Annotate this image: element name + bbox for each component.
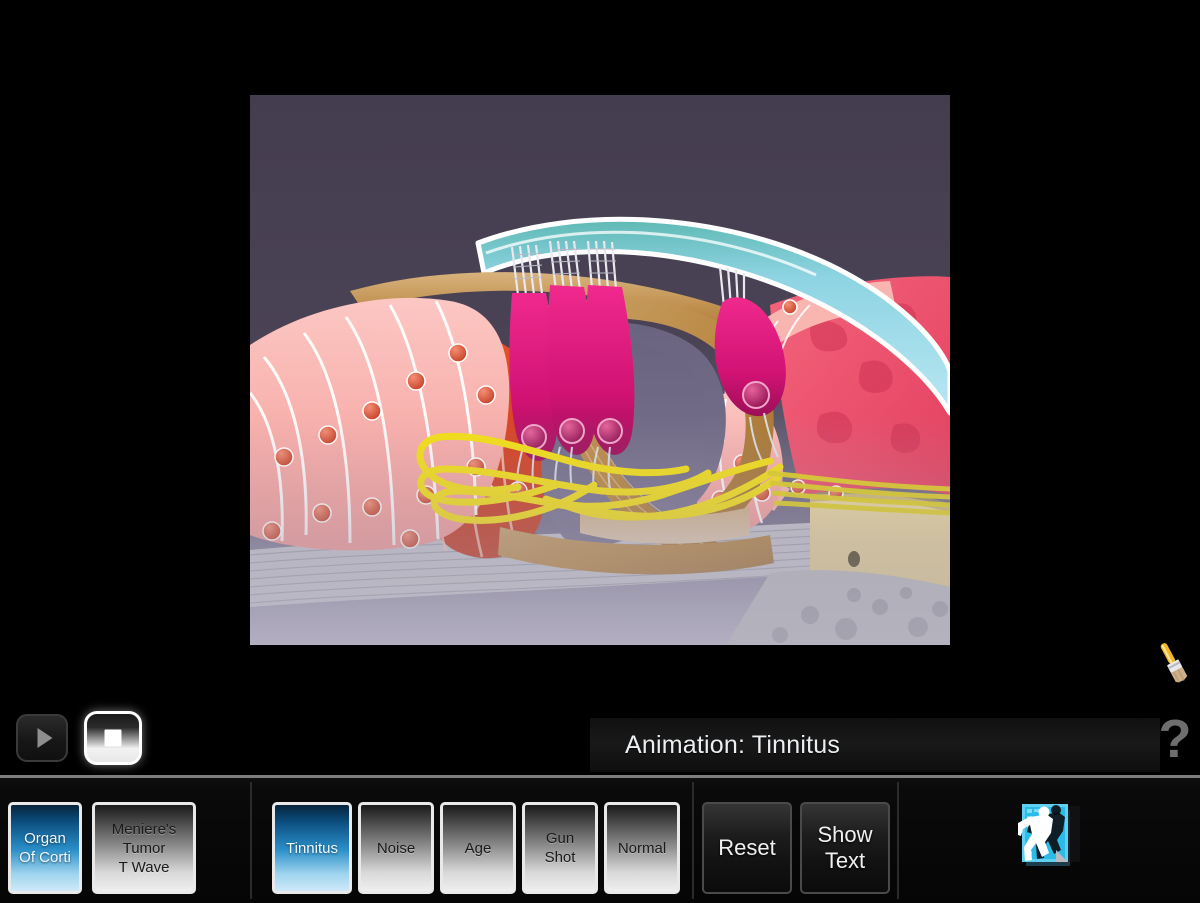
question-mark-icon[interactable]: ?	[1158, 712, 1192, 768]
topic-label: Organ Of Corti	[16, 829, 74, 867]
animation-stage: Animation: Tinnitus ?	[0, 0, 1200, 700]
paintbrush-icon[interactable]	[1154, 640, 1194, 692]
movie-clip-icon[interactable]	[1018, 800, 1080, 872]
animation-title-text: Animation: Tinnitus	[590, 731, 840, 760]
toolbar-divider-1	[250, 782, 252, 899]
play-button[interactable]	[16, 714, 68, 762]
show-text-button[interactable]: Show Text	[800, 802, 890, 894]
show-text-label: Show Text	[814, 822, 875, 874]
topic-label: Meniere's Tumor T Wave	[109, 820, 180, 877]
reset-button[interactable]: Reset	[702, 802, 792, 894]
bottom-toolbar: Organ Of Corti Meniere's Tumor T Wave Ti…	[0, 775, 1200, 903]
animation-button-normal[interactable]: Normal	[604, 802, 680, 894]
animation-button-gun-shot[interactable]: Gun Shot	[522, 802, 598, 894]
panel-bottom-light	[250, 414, 950, 645]
play-triangle-icon	[38, 728, 53, 748]
toolbar-divider-3	[897, 782, 899, 899]
topic-button-organ-of-corti[interactable]: Organ Of Corti	[8, 802, 82, 894]
animation-title-bar: Animation: Tinnitus	[590, 718, 1160, 772]
stop-button[interactable]	[84, 711, 142, 765]
toolbar-divider-2	[692, 782, 694, 899]
application-window: Animation: Tinnitus ? Organ Of Corti	[0, 0, 1200, 900]
animation-button-noise[interactable]: Noise	[358, 802, 434, 894]
animation-button-tinnitus[interactable]: Tinnitus	[272, 802, 352, 894]
illustration-panel[interactable]	[250, 95, 950, 645]
animation-label: Gun Shot	[542, 829, 579, 867]
animation-button-age[interactable]: Age	[440, 802, 516, 894]
topic-button-menieres-tumor-twave[interactable]: Meniere's Tumor T Wave	[92, 802, 196, 894]
stop-square-icon	[105, 730, 122, 747]
